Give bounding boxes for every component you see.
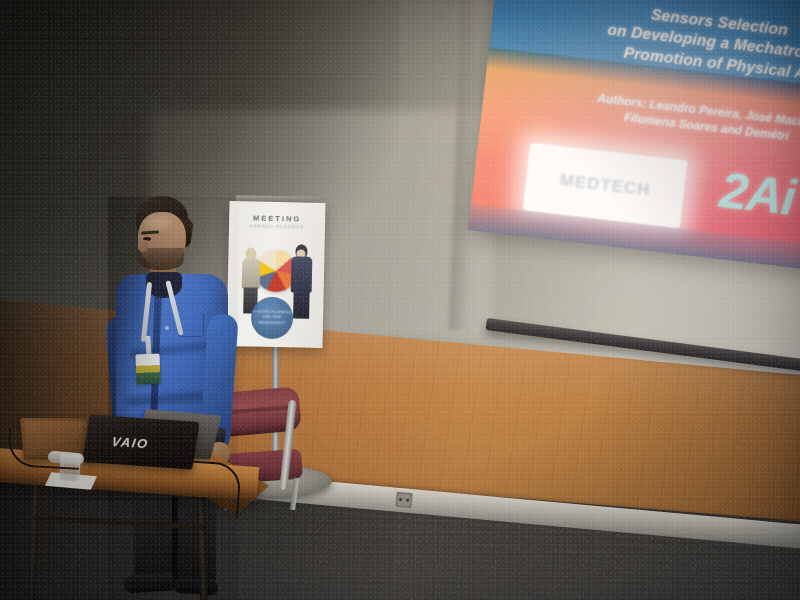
poster-figure-right xyxy=(289,244,315,318)
trouser-leg-gap xyxy=(172,496,178,586)
meeting-poster: MEETING AGENDA PLANNER MEETING PLANNING … xyxy=(226,201,325,348)
lab-logo-text: 2Ai xyxy=(717,161,798,227)
vaio-laptop: VAIO xyxy=(82,414,199,469)
presenter-shoe-left xyxy=(123,572,174,593)
partner-logo-label: MEDTECH xyxy=(559,170,652,200)
poster-badge-text: MEETING PLANNING AND TIME MANAGEMENT xyxy=(251,309,293,326)
shirt-button xyxy=(165,326,169,330)
power-outlet-icon xyxy=(395,492,412,508)
photo-scene: Sensors Selection on Developing a Mechat… xyxy=(0,0,800,600)
conference-badge xyxy=(135,354,160,385)
presenter-shoe-right xyxy=(174,577,219,595)
vaio-brand-logo: VAIO xyxy=(111,434,150,451)
presenter-nose xyxy=(138,240,148,252)
chair-leg xyxy=(290,478,299,510)
presenter xyxy=(108,196,238,600)
poster-badge: MEETING PLANNING AND TIME MANAGEMENT xyxy=(251,296,294,339)
face-highlight xyxy=(144,216,170,230)
poster-subtitle: AGENDA PLANNER xyxy=(229,223,325,230)
